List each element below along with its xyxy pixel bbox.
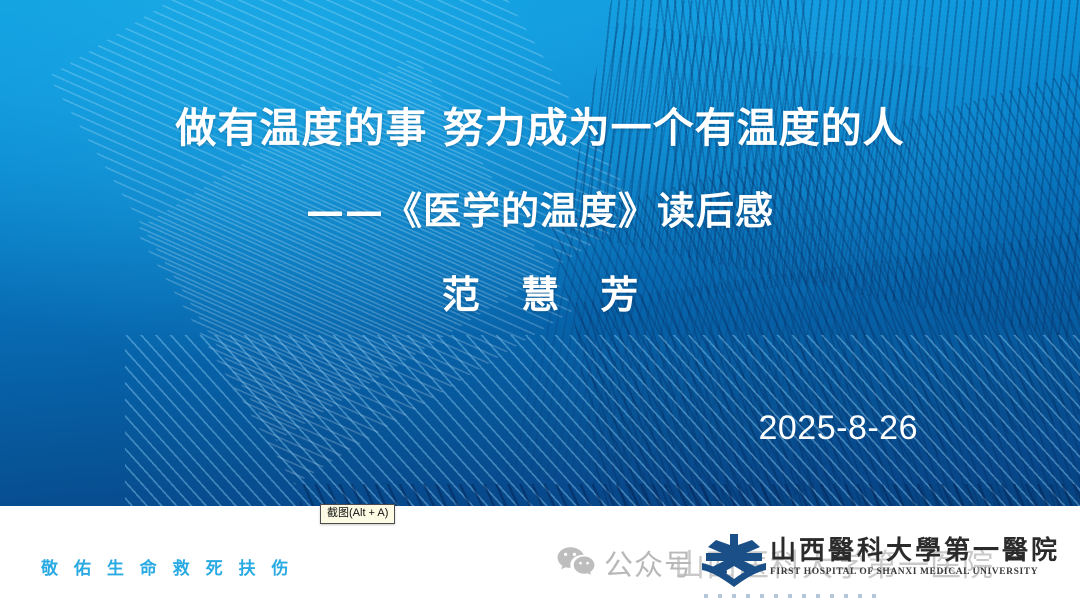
screenshot-shortcut-tooltip: 截图(Alt + A) (320, 504, 395, 524)
screenshot-root: 做有温度的事 努力成为一个有温度的人 ——《医学的温度》读后感 范 慧 芳 20… (0, 0, 1080, 608)
hospital-name-en: FIRST HOSPITAL OF SHANXI MEDICAL UNIVERS… (770, 567, 1060, 577)
wechat-label: 公众号 (604, 542, 694, 584)
hospital-name-block: 山西醫科大學第一醫院 FIRST HOSPITAL OF SHANXI MEDI… (770, 538, 1060, 577)
logo-dotted-rule (704, 594, 884, 598)
hospital-logo-cluster: 山西医科大学第一医院 公众号 (556, 528, 1076, 600)
hospital-slogan: 敬 佑 生 命 救 死 扶 伤 (41, 554, 293, 579)
presentation-slide: 做有温度的事 努力成为一个有温度的人 ——《医学的温度》读后感 范 慧 芳 20… (0, 0, 1080, 506)
slide-author-name: 范 慧 芳 (0, 264, 1080, 319)
slide-title-main: 做有温度的事 努力成为一个有温度的人 (0, 106, 1080, 151)
slide-date: 2025-8-26 (758, 409, 918, 448)
slide-title-subtitle: ——《医学的温度》读后感 (0, 190, 1080, 232)
wechat-public-account: 公众号 (556, 542, 694, 584)
hospital-logo-mark (696, 532, 772, 593)
slide-text-layer: 做有温度的事 努力成为一个有温度的人 ——《医学的温度》读后感 范 慧 芳 20… (0, 0, 1080, 506)
hospital-name-cn: 山西醫科大學第一醫院 (770, 538, 1060, 564)
wechat-icon (556, 546, 596, 581)
footer-bar: 敬 佑 生 命 救 死 扶 伤 山西医科大学第一医院 (0, 506, 1080, 608)
